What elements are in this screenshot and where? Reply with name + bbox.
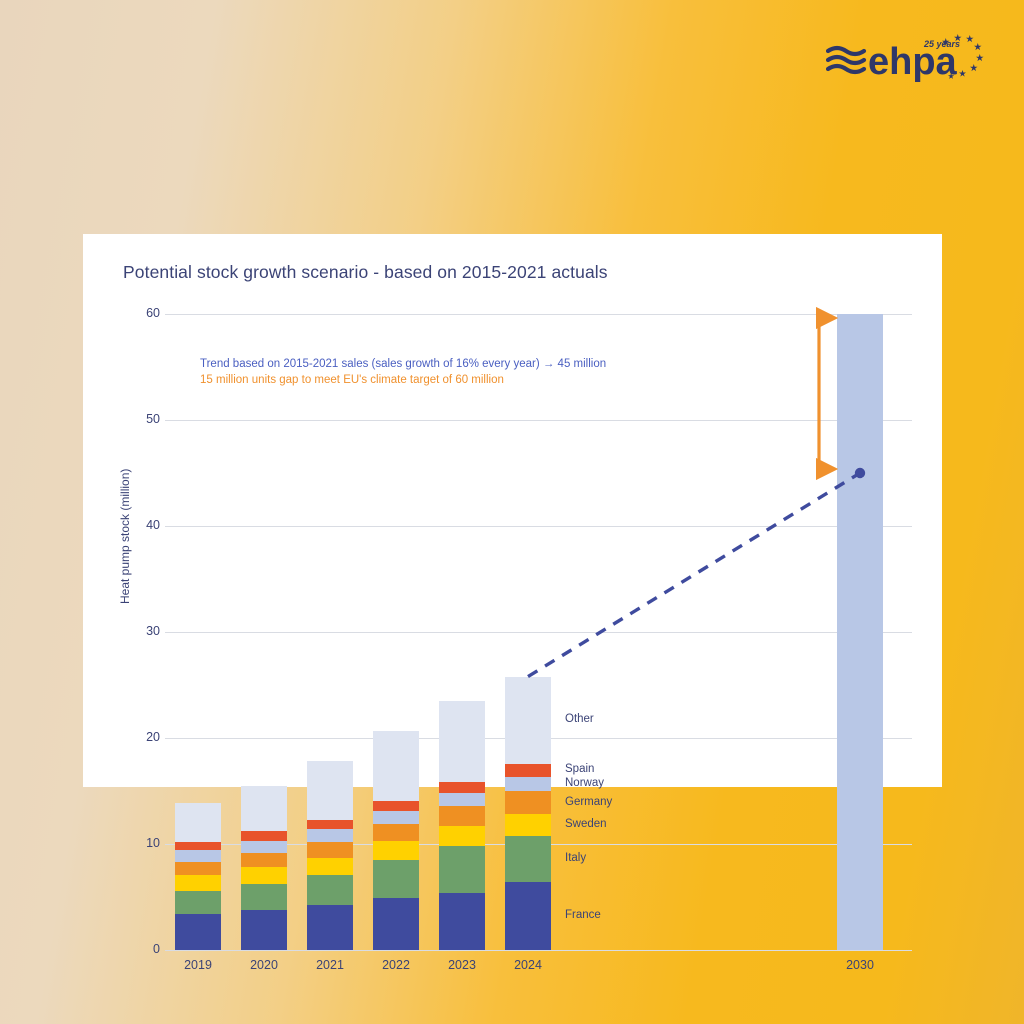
y-tick-label: 0 — [120, 942, 160, 956]
x-tick-2030: 2030 — [825, 958, 895, 972]
x-tick-2021: 2021 — [295, 958, 365, 972]
x-tick-2019: 2019 — [163, 958, 233, 972]
x-tick-2020: 2020 — [229, 958, 299, 972]
y-tick-label: 60 — [120, 306, 160, 320]
logo-svg: ehpa 25 years — [826, 30, 986, 86]
page-title: Potential stock growth scenario - based … — [123, 262, 608, 283]
wave-lines-icon — [828, 48, 864, 72]
gridline — [165, 950, 912, 951]
plot-area: Heat pump stock (million) 0102030405060 … — [165, 314, 912, 950]
x-tick-2022: 2022 — [361, 958, 431, 972]
ehpa-logo: ehpa 25 years — [826, 30, 986, 86]
gap-arrow — [165, 314, 912, 950]
logo-badge-25-years: 25 years — [923, 39, 960, 49]
y-tick-label: 50 — [120, 412, 160, 426]
annotation-gap: 15 million units gap to meet EU's climat… — [200, 374, 504, 386]
y-tick-label: 20 — [120, 730, 160, 744]
y-tick-label: 10 — [120, 836, 160, 850]
annotation-trend: Trend based on 2015-2021 sales (sales gr… — [200, 358, 606, 370]
y-tick-label: 40 — [120, 518, 160, 532]
chart-card: Potential stock growth scenario - based … — [83, 234, 942, 787]
y-axis-label: Heat pump stock (million) — [118, 469, 132, 604]
x-tick-2024: 2024 — [493, 958, 563, 972]
x-tick-2023: 2023 — [427, 958, 497, 972]
y-tick-label: 30 — [120, 624, 160, 638]
